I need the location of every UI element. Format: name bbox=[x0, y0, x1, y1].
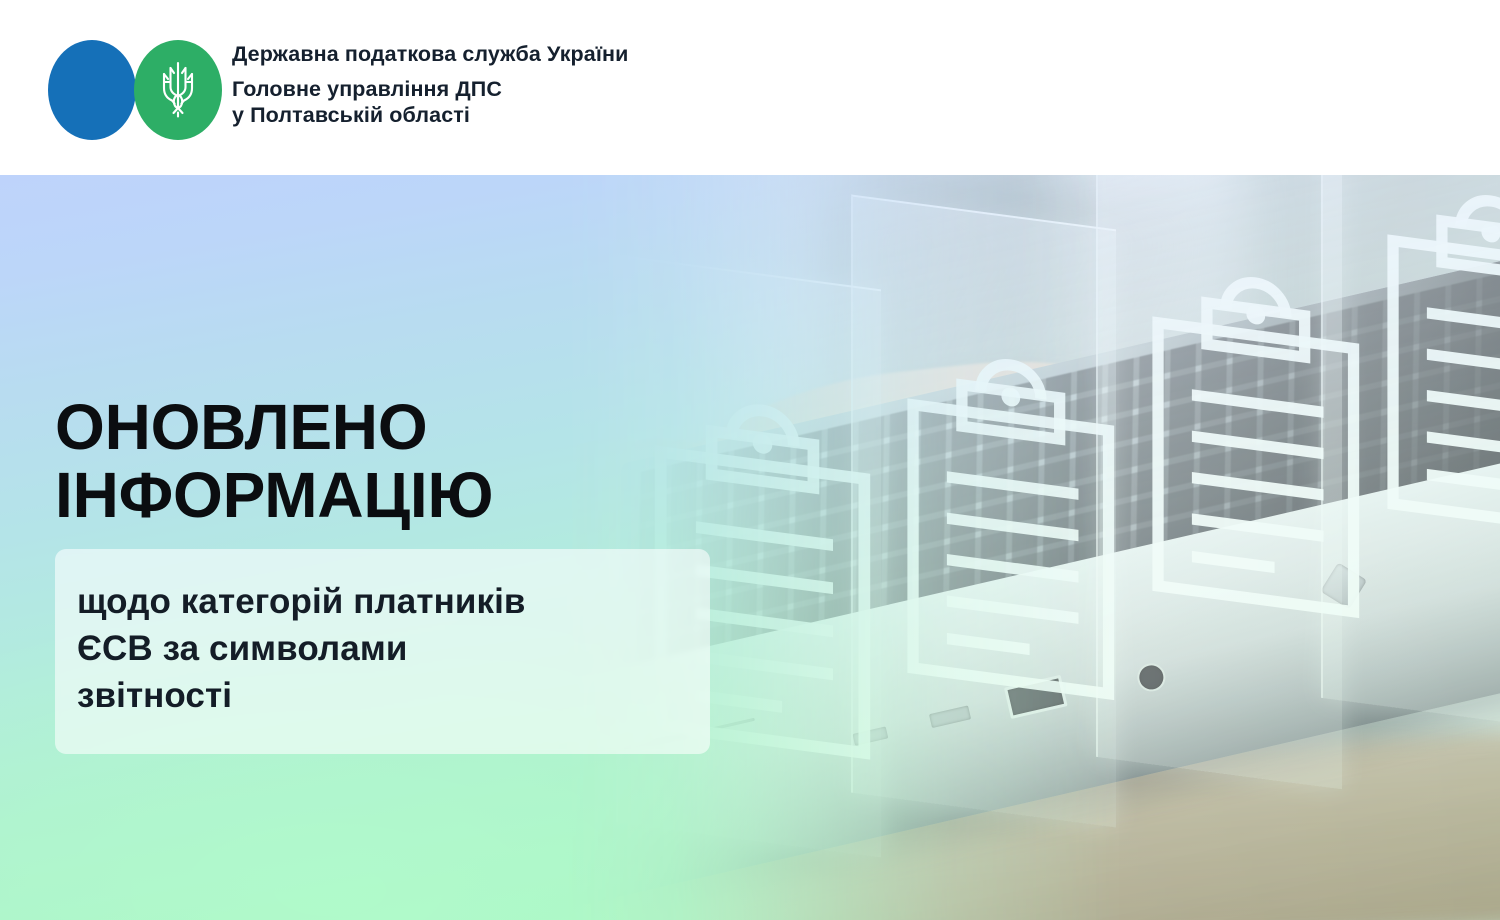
subtitle-line-3: звітності bbox=[77, 676, 232, 715]
organisation-name: Державна податкова служба України Головн… bbox=[232, 38, 628, 127]
site-header: Державна податкова служба України Головн… bbox=[0, 0, 1500, 175]
subtitle-panel: щодо категорій платників ЄСВ за символам… bbox=[55, 549, 710, 754]
headline-line-2: ІНФОРМАЦІЮ bbox=[55, 461, 755, 529]
ukrainian-trident-icon bbox=[160, 60, 196, 118]
hero-banner: ОНОВЛЕНО ІНФОРМАЦІЮ щодо категорій платн… bbox=[0, 175, 1500, 920]
subtitle-text: щодо категорій платників ЄСВ за символам… bbox=[77, 579, 682, 720]
org-line-3: у Полтавській області bbox=[232, 105, 628, 127]
page-title: ОНОВЛЕНО ІНФОРМАЦІЮ bbox=[55, 393, 755, 530]
headline-line-1: ОНОВЛЕНО bbox=[55, 393, 755, 461]
subtitle-line-2: ЄСВ за символами bbox=[77, 629, 407, 668]
hero-copy-block: ОНОВЛЕНО ІНФОРМАЦІЮ щодо категорій платн… bbox=[55, 393, 755, 754]
poster-canvas: Державна податкова служба України Головн… bbox=[0, 0, 1500, 920]
brand-lockup: Державна податкова служба України Головн… bbox=[48, 38, 628, 143]
dps-logo bbox=[48, 38, 216, 143]
subtitle-line-1: щодо категорій платників bbox=[77, 582, 526, 621]
org-line-2: Головне управління ДПС bbox=[232, 79, 628, 101]
org-line-1: Державна податкова служба України bbox=[232, 44, 628, 66]
blue-circle-icon bbox=[48, 40, 136, 140]
